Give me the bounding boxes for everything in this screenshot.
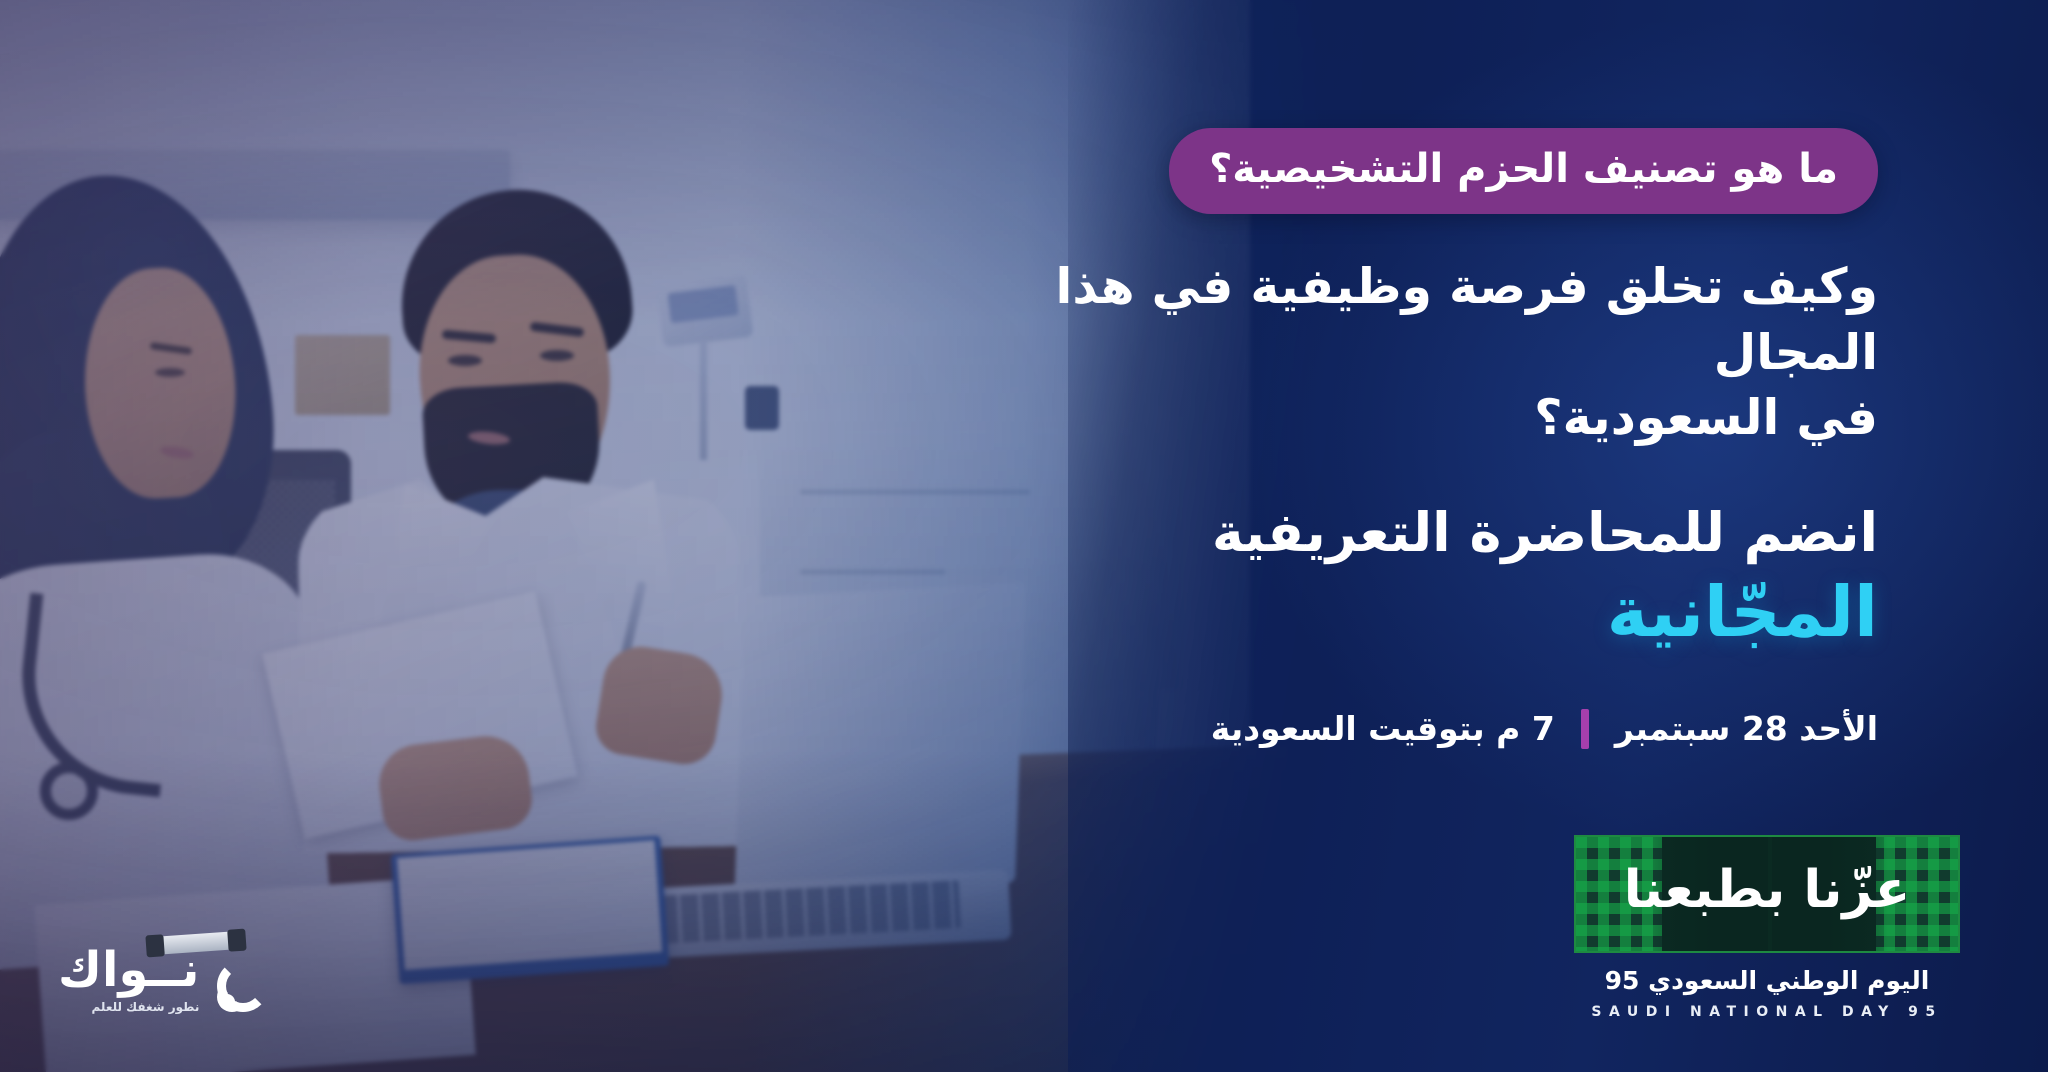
saudi-logo-frame: عزّنا بطبعنا xyxy=(1574,835,1960,953)
nwak-brand-logo: نــواك نطور شغفك للعلم xyxy=(58,946,275,1014)
saudi-national-day-logo: عزّنا بطبعنا اليوم الوطني السعودي 95 SAU… xyxy=(1574,835,1960,1020)
vertical-divider xyxy=(1581,709,1589,749)
nwak-tagline: نطور شغفك للعلم xyxy=(58,1000,199,1014)
subheadline: وكيف تخلق فرصة وظيفية في هذا المجال في ا… xyxy=(1018,254,1878,451)
join-call-to-action: انضم للمحاضرة التعريفية xyxy=(1018,501,1878,566)
subheadline-line-1: وكيف تخلق فرصة وظيفية في هذا المجال xyxy=(1018,254,1878,385)
nwak-text-block: نــواك نطور شغفك للعلم xyxy=(58,946,199,1014)
saudi-logo-arabic-label: اليوم الوطني السعودي 95 xyxy=(1574,966,1960,995)
event-time: 7 م بتوقيت السعودية xyxy=(1211,709,1555,748)
question-badge: ما هو تصنيف الحزم التشخيصية؟ xyxy=(1169,128,1878,214)
saudi-logo-english-label: SAUDI NATIONAL DAY 95 xyxy=(1574,1004,1960,1020)
nwak-name: نــواك xyxy=(58,946,199,994)
wifi-signal-icon xyxy=(213,956,275,1014)
date-time-row: الأحد 28 سبتمبر 7 م بتوقيت السعودية xyxy=(1018,709,1878,749)
subheadline-line-2: في السعودية؟ xyxy=(1018,385,1878,451)
promo-banner: ما هو تصنيف الحزم التشخيصية؟ وكيف تخلق ف… xyxy=(0,0,2048,1072)
free-highlight-word: المجّانية xyxy=(1018,574,1878,651)
event-date: الأحد 28 سبتمبر xyxy=(1615,709,1878,748)
saudi-logo-wordmark: عزّنا بطبعنا xyxy=(1576,837,1958,951)
